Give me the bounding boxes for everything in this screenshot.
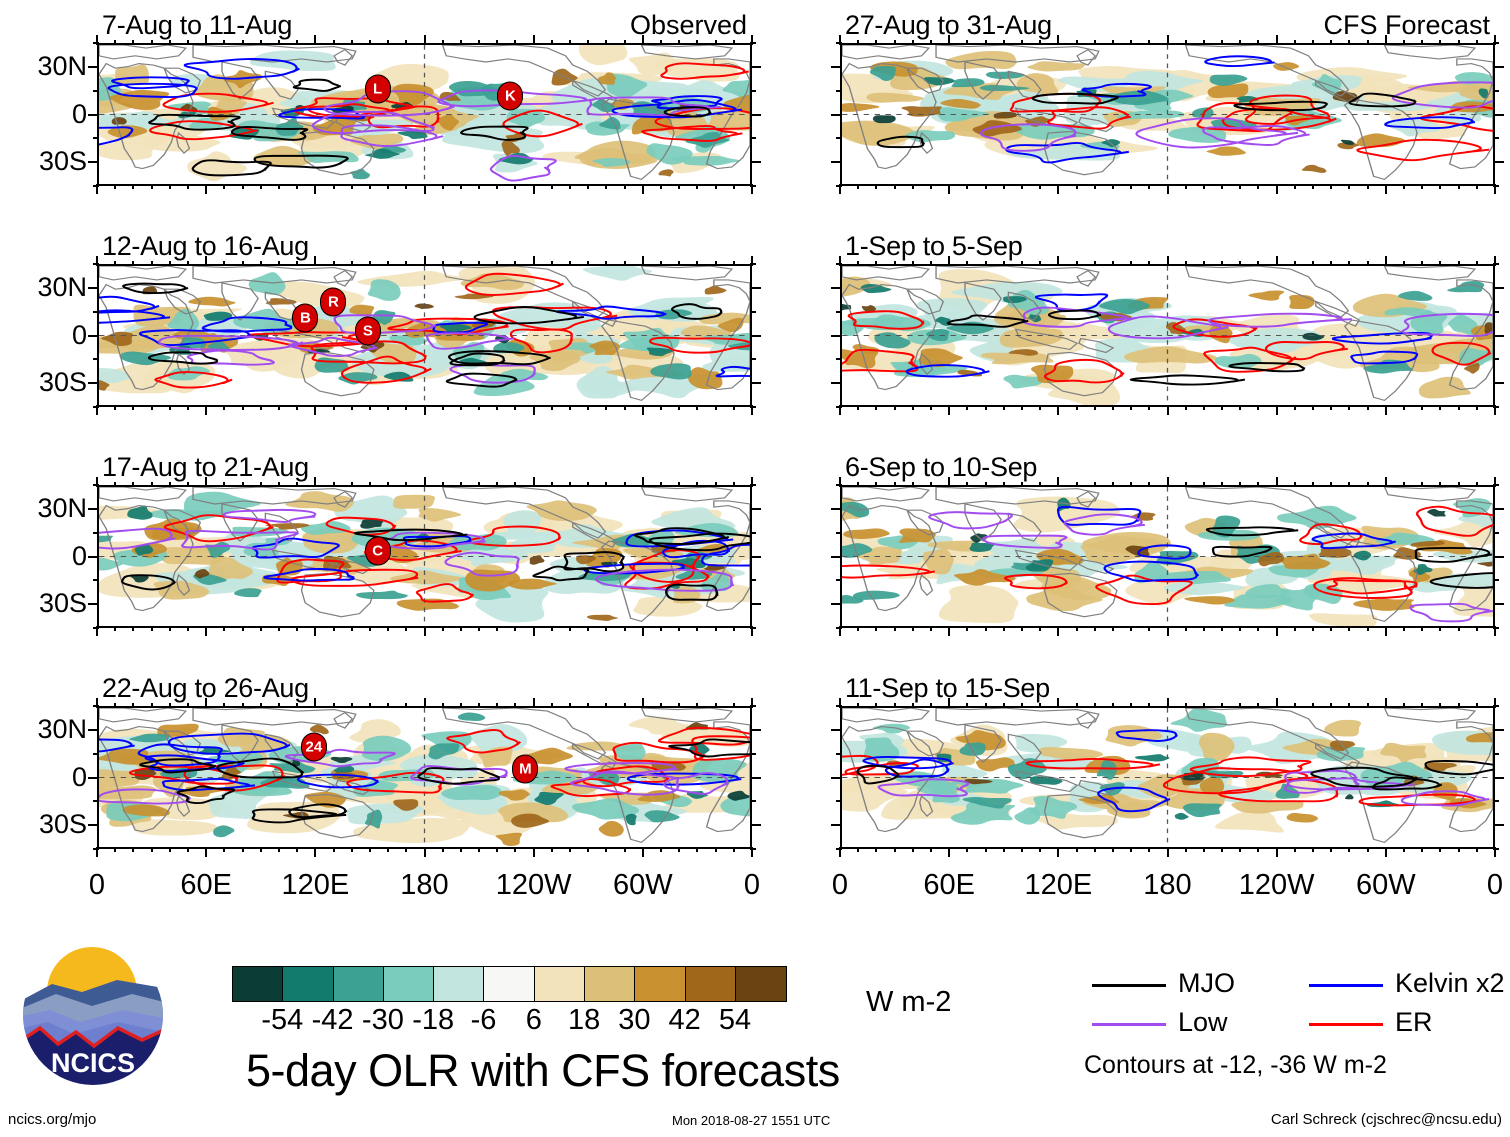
x-axis-tick [1257, 261, 1259, 266]
y-axis-tick [1493, 729, 1504, 731]
ncics-logo[interactable]: NCICS [22, 944, 164, 1086]
x-axis-tick [912, 261, 914, 266]
x-axis-tick [1076, 184, 1078, 189]
x-axis-tick [857, 184, 859, 189]
x-axis-tick [278, 626, 280, 631]
x-axis-tick [296, 184, 298, 189]
x-axis-tick [1185, 405, 1187, 410]
panel-title-5: 1-Sep to 5-Sep [845, 233, 1022, 260]
x-axis-tick [1148, 261, 1150, 266]
x-axis-tick [314, 477, 316, 487]
x-axis-tick [1221, 184, 1223, 189]
x-axis-tick [533, 405, 535, 415]
x-axis-label-6: 0 [1435, 871, 1510, 900]
x-axis-tick [314, 698, 316, 708]
x-axis-tick [405, 261, 407, 266]
y-axis-label-0: 0 [1, 322, 87, 349]
x-axis-tick [242, 703, 244, 708]
x-axis-tick [678, 405, 680, 410]
map-panel-7[interactable] [840, 706, 1495, 849]
x-axis-tick [1257, 40, 1259, 45]
x-axis-tick [875, 703, 877, 708]
x-axis-tick [151, 482, 153, 487]
x-axis-tick [442, 405, 444, 410]
x-axis-tick [223, 482, 225, 487]
x-axis-tick [496, 261, 498, 266]
x-axis-tick [478, 847, 480, 852]
x-axis-tick [387, 40, 389, 45]
x-axis-tick [696, 184, 698, 189]
x-axis-tick [442, 261, 444, 266]
x-axis-tick [660, 847, 662, 852]
x-axis-tick [1458, 847, 1460, 852]
x-axis-tick [1130, 405, 1132, 410]
x-axis-tick [169, 626, 171, 631]
map-panel-0[interactable]: LK [97, 43, 752, 186]
x-axis-tick [696, 847, 698, 852]
x-axis-tick [948, 847, 950, 857]
x-axis-tick [478, 405, 480, 410]
x-axis-tick [1257, 405, 1259, 410]
x-axis-tick [1257, 184, 1259, 189]
x-axis-tick [405, 847, 407, 852]
x-axis-tick [642, 35, 644, 45]
y-axis-tick [93, 90, 99, 92]
x-axis-tick [1076, 261, 1078, 266]
x-axis-tick [1167, 477, 1169, 487]
x-axis-tick [96, 477, 98, 487]
x-axis-tick [660, 261, 662, 266]
x-axis-tick [496, 184, 498, 189]
x-axis-tick [1239, 40, 1241, 45]
x-axis-tick [533, 184, 535, 194]
map-panel-3[interactable]: 24M [97, 706, 752, 849]
x-axis-tick [1348, 482, 1350, 487]
x-axis-tick [1203, 184, 1205, 189]
x-axis-tick [1421, 482, 1423, 487]
storm-marker[interactable]: S [355, 317, 381, 346]
x-axis-tick [278, 40, 280, 45]
x-axis-tick [642, 698, 644, 708]
x-axis-tick [369, 482, 371, 487]
x-axis-tick [1112, 703, 1114, 708]
colorbar-bin-8 [635, 967, 685, 1001]
x-axis-tick [1112, 261, 1114, 266]
legend-label-low: Low [1178, 1009, 1228, 1036]
x-axis-tick [696, 703, 698, 708]
x-axis-tick [314, 626, 316, 636]
x-axis-tick [114, 261, 116, 266]
storm-marker[interactable]: M [512, 755, 538, 784]
x-axis-tick [1094, 626, 1096, 631]
y-axis-tick [831, 508, 842, 510]
x-axis-tick [1439, 626, 1441, 631]
x-axis-tick [1458, 626, 1460, 631]
footer-timestamp: Mon 2018-08-27 1551 UTC [672, 1113, 830, 1128]
x-axis-tick [514, 847, 516, 852]
x-axis-tick [424, 256, 426, 266]
y-axis-tick [836, 800, 842, 802]
x-axis-tick [187, 40, 189, 45]
x-axis-tick [424, 405, 426, 415]
y-axis-tick [88, 287, 99, 289]
y-axis-tick [1493, 335, 1504, 337]
x-axis-tick [966, 261, 968, 266]
x-axis-tick [151, 184, 153, 189]
y-axis-tick [750, 532, 756, 534]
storm-marker[interactable]: R [320, 288, 346, 317]
x-axis-tick [1458, 40, 1460, 45]
x-axis-tick [1494, 626, 1496, 636]
x-axis-tick [169, 482, 171, 487]
x-axis-tick [1276, 698, 1278, 708]
x-axis-tick [1494, 847, 1496, 857]
x-axis-tick [1185, 40, 1187, 45]
x-axis-tick [96, 35, 98, 45]
x-axis-tick [1494, 477, 1496, 487]
x-axis-tick [1167, 847, 1169, 857]
x-axis-tick [151, 847, 153, 852]
map-canvas [842, 708, 1493, 847]
map-canvas [99, 266, 750, 405]
map-panel-6[interactable] [840, 485, 1495, 628]
x-axis-tick [930, 184, 932, 189]
x-axis-tick [1076, 626, 1078, 631]
x-axis-tick [114, 626, 116, 631]
y-axis-tick [93, 800, 99, 802]
x-axis-tick [96, 405, 98, 415]
x-axis-tick [966, 626, 968, 631]
x-axis-tick [587, 405, 589, 410]
y-axis-tick [750, 556, 761, 558]
x-axis-tick [151, 405, 153, 410]
x-axis-tick [1330, 703, 1332, 708]
x-axis-tick [1494, 256, 1496, 266]
x-axis-label-1: 60E [146, 871, 266, 900]
y-axis-tick [831, 603, 842, 605]
footer-left-link[interactable]: ncics.org/mjo [8, 1112, 96, 1127]
x-axis-tick [1348, 405, 1350, 410]
legend-swatch-er [1309, 1023, 1383, 1026]
x-axis-tick [569, 184, 571, 189]
x-axis-tick [478, 184, 480, 189]
x-axis-tick [1348, 184, 1350, 189]
x-axis-tick [948, 698, 950, 708]
x-axis-tick [642, 477, 644, 487]
x-axis-tick [1039, 482, 1041, 487]
x-axis-tick [296, 405, 298, 410]
x-axis-tick [678, 847, 680, 852]
x-axis-tick [260, 703, 262, 708]
x-axis-tick [839, 184, 841, 194]
storm-marker[interactable]: K [497, 82, 523, 111]
x-axis-tick [1439, 184, 1441, 189]
x-axis-tick [296, 261, 298, 266]
legend-swatch-kelvin-x2 [1309, 984, 1383, 987]
x-axis-tick [569, 405, 571, 410]
x-axis-tick [1021, 261, 1023, 266]
x-axis-tick [424, 847, 426, 857]
x-axis-tick [351, 184, 353, 189]
y-axis-tick [93, 311, 99, 313]
y-axis-tick [750, 777, 761, 779]
x-axis-tick [1330, 261, 1332, 266]
x-axis-tick [751, 35, 753, 45]
y-axis-tick [831, 161, 842, 163]
x-axis-tick [1185, 847, 1187, 852]
x-axis-tick [642, 256, 644, 266]
x-axis-tick [1421, 184, 1423, 189]
x-axis-tick [642, 405, 644, 415]
x-axis-tick [1057, 35, 1059, 45]
x-axis-tick [405, 482, 407, 487]
x-axis-tick [1185, 261, 1187, 266]
x-axis-tick [442, 40, 444, 45]
x-axis-tick [514, 482, 516, 487]
y-axis-tick [750, 90, 756, 92]
x-axis-tick [1094, 40, 1096, 45]
x-axis-tick [1003, 703, 1005, 708]
x-axis-tick [1203, 703, 1205, 708]
x-axis-tick [1076, 482, 1078, 487]
x-axis-tick [1239, 261, 1241, 266]
x-axis-label-4: 120W [1217, 871, 1337, 900]
x-axis-tick [1076, 40, 1078, 45]
x-axis-tick [1203, 40, 1205, 45]
x-axis-tick [1348, 261, 1350, 266]
x-axis-tick [1094, 482, 1096, 487]
x-axis-tick [242, 482, 244, 487]
x-axis-tick [460, 184, 462, 189]
y-axis-tick [1493, 90, 1499, 92]
footer-author: Carl Schreck (cjschrec@ncsu.edu) [1271, 1112, 1502, 1127]
x-axis-tick [351, 703, 353, 708]
x-axis-tick [966, 482, 968, 487]
x-axis-label-2: 120E [998, 871, 1118, 900]
y-axis-tick [836, 579, 842, 581]
x-axis-tick [1294, 184, 1296, 189]
x-axis-tick [1039, 847, 1041, 852]
x-axis-tick [333, 184, 335, 189]
x-axis-tick [1094, 184, 1096, 189]
x-axis-tick [751, 477, 753, 487]
x-axis-tick [1003, 405, 1005, 410]
x-axis-tick [1185, 626, 1187, 631]
x-axis-tick [1039, 261, 1041, 266]
x-axis-tick [1057, 184, 1059, 194]
x-axis-tick [1276, 256, 1278, 266]
y-axis-tick [750, 382, 761, 384]
x-axis-tick [1130, 261, 1132, 266]
x-axis-tick [1112, 40, 1114, 45]
x-axis-tick [1312, 482, 1314, 487]
x-axis-tick [496, 40, 498, 45]
x-axis-tick [351, 847, 353, 852]
y-axis-tick [1493, 311, 1499, 313]
x-axis-tick [96, 256, 98, 266]
map-panel-1[interactable]: BRS [97, 264, 752, 407]
x-axis-tick [242, 40, 244, 45]
x-axis-tick [1367, 261, 1369, 266]
x-axis-tick [424, 184, 426, 194]
x-axis-tick [1221, 405, 1223, 410]
x-axis-tick [551, 703, 553, 708]
x-axis-tick [1348, 847, 1350, 852]
x-axis-tick [1403, 405, 1405, 410]
x-axis-tick [478, 261, 480, 266]
x-axis-tick [551, 184, 553, 189]
x-axis-tick [514, 703, 516, 708]
x-axis-tick [1403, 847, 1405, 852]
x-axis-tick [405, 40, 407, 45]
x-axis-tick [1203, 482, 1205, 487]
x-axis-tick [1257, 847, 1259, 852]
y-axis-label-30S: 30S [1, 369, 87, 396]
x-axis-tick [733, 847, 735, 852]
legend-swatch-low [1092, 1023, 1166, 1026]
colorbar-bin-5 [484, 967, 534, 1001]
y-axis-tick [88, 824, 99, 826]
storm-marker[interactable]: L [365, 75, 391, 104]
x-axis-tick [1348, 703, 1350, 708]
x-axis-tick [894, 40, 896, 45]
x-axis-tick [1276, 35, 1278, 45]
x-axis-tick [857, 405, 859, 410]
x-axis-tick [132, 482, 134, 487]
x-axis-tick [187, 261, 189, 266]
x-axis-tick [624, 40, 626, 45]
x-axis-tick [460, 703, 462, 708]
x-axis-tick [1167, 35, 1169, 45]
x-axis-tick [1239, 405, 1241, 410]
y-axis-tick [750, 729, 761, 731]
y-axis-tick [750, 335, 761, 337]
x-axis-tick [369, 40, 371, 45]
x-axis-tick [278, 405, 280, 410]
y-axis-tick [93, 358, 99, 360]
x-axis-tick [260, 482, 262, 487]
x-axis-tick [1130, 703, 1132, 708]
x-axis-tick [1276, 847, 1278, 857]
x-axis-tick [1021, 184, 1023, 189]
x-axis-tick [1130, 847, 1132, 852]
x-axis-tick [1330, 40, 1332, 45]
x-axis-tick [114, 703, 116, 708]
x-axis-tick [1294, 703, 1296, 708]
x-axis-tick [605, 626, 607, 631]
colorbar-bin-4 [434, 967, 484, 1001]
x-axis-tick [187, 482, 189, 487]
x-axis-tick [533, 256, 535, 266]
y-axis-tick [1493, 358, 1499, 360]
x-axis-tick [912, 482, 914, 487]
x-axis-tick [912, 703, 914, 708]
x-axis-tick [151, 261, 153, 266]
storm-marker[interactable]: C [365, 536, 391, 565]
x-axis-tick [1385, 405, 1387, 415]
x-axis-tick [260, 405, 262, 410]
x-axis-tick [1185, 482, 1187, 487]
x-axis-tick [1003, 40, 1005, 45]
x-axis-tick [587, 40, 589, 45]
x-axis-tick [1112, 405, 1114, 410]
x-axis-tick [1385, 35, 1387, 45]
x-axis-tick [1039, 184, 1041, 189]
map-panel-5[interactable] [840, 264, 1495, 407]
x-axis-tick [278, 261, 280, 266]
x-axis-tick [569, 482, 571, 487]
x-axis-tick [151, 40, 153, 45]
x-axis-tick [1385, 477, 1387, 487]
x-axis-tick [351, 40, 353, 45]
x-axis-tick [1203, 847, 1205, 852]
x-axis-tick [1257, 482, 1259, 487]
x-axis-tick [1076, 405, 1078, 410]
x-axis-tick [533, 626, 535, 636]
storm-marker[interactable]: 24 [301, 732, 327, 761]
x-axis-tick [1057, 847, 1059, 857]
x-axis-tick [478, 626, 480, 631]
x-axis-tick [1221, 847, 1223, 852]
x-axis-tick [948, 626, 950, 636]
colorbar-units-label: W m-2 [866, 988, 951, 1017]
x-axis-tick [1021, 847, 1023, 852]
x-axis-tick [930, 703, 932, 708]
x-axis-label-4: 120W [474, 871, 594, 900]
y-axis-tick [1493, 753, 1499, 755]
x-axis-tick [223, 626, 225, 631]
x-axis-tick [187, 703, 189, 708]
x-axis-tick [1476, 40, 1478, 45]
storm-marker[interactable]: B [292, 303, 318, 332]
y-axis-tick [88, 66, 99, 68]
x-axis-tick [1203, 626, 1205, 631]
map-panel-4[interactable] [840, 43, 1495, 186]
x-axis-tick [114, 405, 116, 410]
x-axis-tick [894, 626, 896, 631]
map-canvas [99, 487, 750, 626]
x-axis-tick [1403, 703, 1405, 708]
x-axis-tick [1257, 703, 1259, 708]
x-axis-tick [1494, 405, 1496, 415]
x-axis-tick [278, 184, 280, 189]
x-axis-tick [966, 703, 968, 708]
x-axis-tick [930, 482, 932, 487]
x-axis-tick [678, 40, 680, 45]
x-axis-tick [1439, 40, 1441, 45]
x-axis-tick [496, 482, 498, 487]
x-axis-tick [839, 256, 841, 266]
x-axis-tick [278, 703, 280, 708]
x-axis-tick [587, 626, 589, 631]
y-axis-tick [1493, 161, 1504, 163]
x-axis-tick [1294, 405, 1296, 410]
map-panel-2[interactable]: C [97, 485, 752, 628]
y-axis-label-0: 0 [1, 543, 87, 570]
x-axis-tick [948, 35, 950, 45]
x-axis-tick [1039, 40, 1041, 45]
x-axis-tick [587, 703, 589, 708]
x-axis-tick [642, 847, 644, 857]
x-axis-tick [314, 256, 316, 266]
x-axis-tick [894, 847, 896, 852]
x-axis-tick [1167, 698, 1169, 708]
x-axis-tick [1439, 405, 1441, 410]
x-axis-tick [242, 847, 244, 852]
x-axis-tick [242, 405, 244, 410]
x-axis-tick [948, 256, 950, 266]
x-axis-tick [387, 261, 389, 266]
